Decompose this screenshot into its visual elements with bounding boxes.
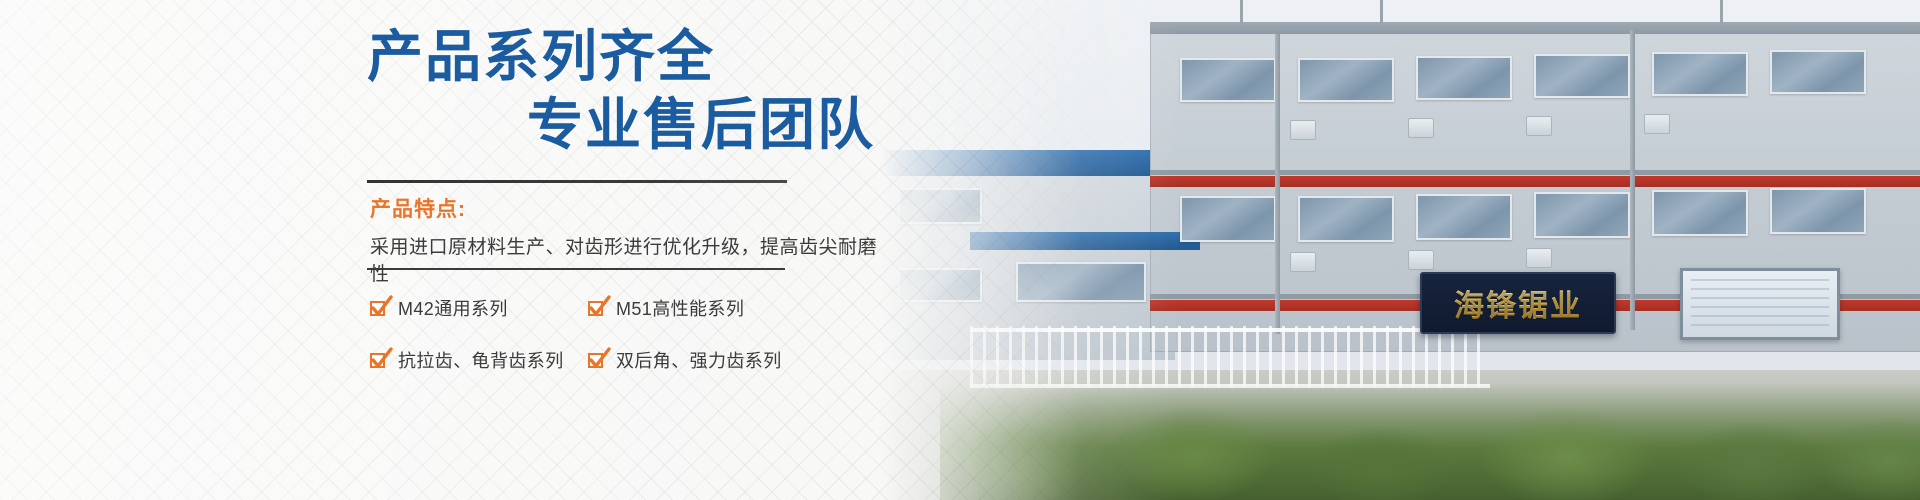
window [1534, 192, 1630, 238]
window [1652, 190, 1748, 236]
window [1298, 196, 1394, 242]
list-item-label: 抗拉齿、龟背齿系列 [398, 347, 564, 373]
roof-pole [1240, 0, 1243, 24]
feature-description: 采用进口原材料生产、对齿形进行优化升级，提高齿尖耐磨性 [370, 232, 880, 286]
window [1298, 58, 1394, 102]
window [1534, 54, 1630, 98]
list-item[interactable]: M51高性能系列 [588, 295, 798, 321]
blue-roof-lower [970, 232, 1200, 250]
window [1016, 262, 1146, 302]
series-list: M42通用系列 M51高性能系列 抗拉齿、龟背齿系列 双后角、强力齿系列 [370, 295, 790, 373]
list-item[interactable]: 抗拉齿、龟背齿系列 [370, 347, 588, 373]
list-item-label: 双后角、强力齿系列 [616, 347, 782, 373]
divider-bottom [367, 268, 785, 270]
list-item[interactable]: 双后角、强力齿系列 [588, 347, 798, 373]
building-roofline [1150, 22, 1920, 34]
window [898, 268, 982, 302]
perimeter-fence [970, 326, 1490, 388]
checkbox-checked-icon [370, 301, 385, 316]
ac-unit [1526, 248, 1552, 268]
list-item[interactable]: M42通用系列 [370, 295, 588, 321]
list-item-label: M51高性能系列 [616, 295, 744, 321]
roof-pole [1720, 0, 1723, 24]
ac-unit [1408, 118, 1434, 138]
window [1770, 50, 1866, 94]
company-sign-text: 海锋锯业 [1454, 281, 1582, 325]
ac-unit [1290, 120, 1316, 140]
window [1652, 52, 1748, 96]
window [1180, 58, 1276, 102]
downpipe [1630, 30, 1635, 330]
roof-pole [1380, 0, 1383, 24]
window [1416, 194, 1512, 240]
checkbox-checked-icon [588, 353, 603, 368]
facade-band-grey-1 [1150, 170, 1920, 175]
feature-title: 产品特点: [370, 193, 466, 223]
ac-unit [1526, 116, 1552, 136]
company-signboard: 海锋锯业 [1420, 272, 1616, 334]
window [1770, 188, 1866, 234]
ac-unit [1290, 252, 1316, 272]
checkbox-checked-icon [370, 353, 385, 368]
checkbox-checked-icon [588, 301, 603, 316]
promo-banner: 海锋锯业 产品系列齐全 专业售后团队 产品特点: 采用进口原材料生产、对齿形进行… [0, 0, 1920, 500]
window [1180, 196, 1276, 242]
headline-line-2: 专业售后团队 [527, 95, 875, 154]
list-item-label: M42通用系列 [398, 295, 508, 321]
ac-unit [1644, 114, 1670, 134]
ac-unit [1408, 250, 1434, 270]
hedge-greenery [940, 382, 1920, 500]
divider-top [367, 180, 787, 183]
banner-content: 产品系列齐全 专业售后团队 产品特点: 采用进口原材料生产、对齿形进行优化升级，… [0, 0, 880, 500]
notice-board [1680, 268, 1840, 340]
downpipe [1275, 34, 1280, 334]
factory-photo: 海锋锯业 [820, 0, 1920, 500]
window [898, 188, 982, 224]
window [1416, 56, 1512, 100]
headline-line-1: 产品系列齐全 [367, 27, 715, 86]
blue-roof-canopy [860, 150, 1190, 176]
facade-band-red-1 [1150, 176, 1920, 187]
